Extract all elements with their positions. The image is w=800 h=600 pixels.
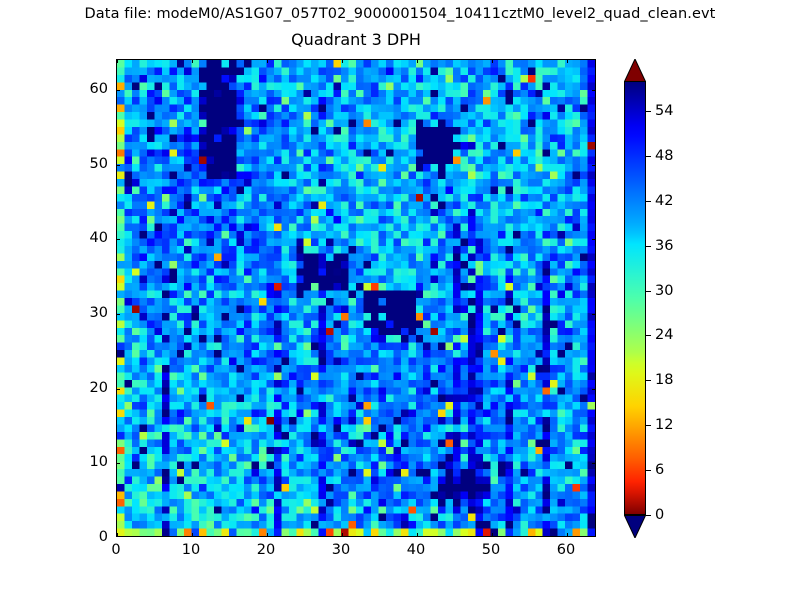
colorbar-extend-min-arrow: [624, 515, 646, 538]
y-tick-mark-right: [592, 463, 596, 464]
y-tick-mark: [116, 165, 120, 166]
y-tick-label: 60: [90, 81, 108, 97]
colorbar-tick-mark: [646, 425, 651, 426]
x-tick-label: 10: [182, 542, 200, 558]
x-tick-label: 20: [257, 542, 275, 558]
colorbar-tick-label: 12: [655, 417, 673, 433]
y-tick-mark-right: [592, 314, 596, 315]
x-tick-mark: [342, 533, 343, 537]
y-tick-label: 30: [90, 305, 108, 321]
y-tick-mark: [116, 314, 120, 315]
colorbar-tick-label: 36: [655, 238, 673, 254]
heatmap-axes[interactable]: [116, 59, 596, 537]
colorbar[interactable]: 061218243036424854: [624, 59, 646, 537]
x-tick-mark-top: [192, 59, 193, 63]
y-tick-label: 10: [90, 454, 108, 470]
colorbar-tick-label: 24: [655, 327, 673, 343]
y-tick-mark: [116, 389, 120, 390]
x-tick-mark: [492, 533, 493, 537]
y-tick-mark: [116, 239, 120, 240]
y-tick-mark: [116, 90, 120, 91]
colorbar-tick-mark: [646, 470, 651, 471]
colorbar-extend-max-arrow: [624, 59, 646, 82]
colorbar-tick-label: 42: [655, 193, 673, 209]
colorbar-tick-label: 54: [655, 103, 673, 119]
colorbar-tick-label: 6: [655, 462, 664, 478]
y-tick-label: 0: [99, 529, 108, 545]
colorbar-tick-mark: [646, 246, 651, 247]
colorbar-tick-label: 0: [655, 507, 664, 523]
x-tick-mark: [117, 533, 118, 537]
y-tick-mark-right: [592, 389, 596, 390]
data-file-label: Data file: modeM0/AS1G07_057T02_90000015…: [0, 6, 800, 22]
colorbar-tick-mark: [646, 380, 651, 381]
y-tick-mark-right: [592, 165, 596, 166]
colorbar-tick-label: 48: [655, 148, 673, 164]
y-tick-label: 50: [90, 156, 108, 172]
x-tick-mark-top: [492, 59, 493, 63]
x-tick-label: 60: [557, 542, 575, 558]
colorbar-tick-mark: [646, 515, 651, 516]
y-tick-mark: [116, 463, 120, 464]
x-tick-label: 30: [332, 542, 350, 558]
colorbar-gradient: [624, 81, 646, 515]
colorbar-tick-mark: [646, 156, 651, 157]
x-tick-label: 40: [407, 542, 425, 558]
colorbar-tick-label: 30: [655, 283, 673, 299]
x-tick-label: 50: [482, 542, 500, 558]
x-tick-mark-top: [267, 59, 268, 63]
colorbar-tick-mark: [646, 291, 651, 292]
x-tick-mark: [192, 533, 193, 537]
x-tick-mark: [417, 533, 418, 537]
y-tick-label: 40: [90, 230, 108, 246]
x-tick-mark-top: [117, 59, 118, 63]
colorbar-tick-mark: [646, 201, 651, 202]
colorbar-tick-label: 18: [655, 372, 673, 388]
figure-canvas: Data file: modeM0/AS1G07_057T02_90000015…: [0, 0, 800, 600]
x-tick-mark: [267, 533, 268, 537]
x-tick-label: 0: [111, 542, 120, 558]
colorbar-tick-mark: [646, 335, 651, 336]
y-tick-label: 20: [90, 380, 108, 396]
x-tick-mark: [567, 533, 568, 537]
y-tick-mark-right: [592, 239, 596, 240]
x-tick-mark-top: [342, 59, 343, 63]
detector-pixel-heatmap[interactable]: [117, 60, 595, 536]
y-tick-mark-right: [592, 90, 596, 91]
colorbar-tick-mark: [646, 111, 651, 112]
x-tick-mark-top: [567, 59, 568, 63]
plot-title: Quadrant 3 DPH: [116, 30, 596, 49]
x-tick-mark-top: [417, 59, 418, 63]
